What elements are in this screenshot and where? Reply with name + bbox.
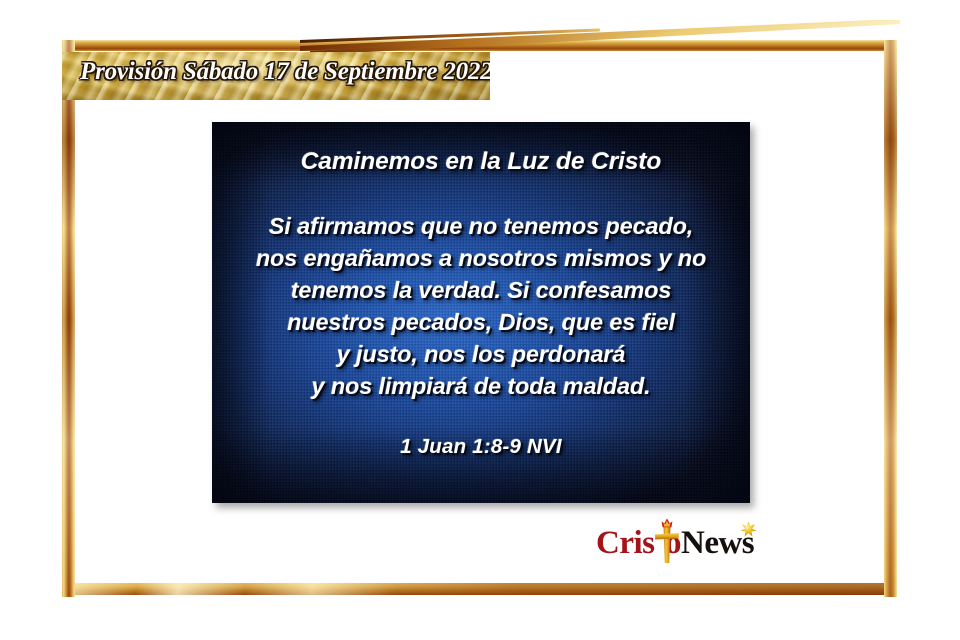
- frame-border-left: [62, 40, 75, 597]
- verse-heading: Caminemos en la Luz de Cristo: [301, 148, 662, 176]
- verse-body: Si afirmamos que no tenemos pecado, nos …: [256, 210, 706, 402]
- verse-line: y justo, nos los perdonará: [256, 338, 706, 370]
- page-title: Provisión Sábado 17 de Septiembre 2022: [80, 58, 490, 86]
- slide-canvas: Provisión Sábado 17 de Septiembre 2022 C…: [0, 0, 960, 640]
- title-band: Provisión Sábado 17 de Septiembre 2022: [62, 52, 490, 100]
- cristonews-logo[interactable]: CristoNews: [596, 520, 761, 568]
- verse-line: Si afirmamos que no tenemos pecado,: [256, 210, 706, 242]
- verse-reference: 1 Juan 1:8-9 NVI: [400, 435, 562, 459]
- verse-card: Caminemos en la Luz de Cristo Si afirmam…: [212, 122, 750, 503]
- verse-line: nos engañamos a nosotros mismos y no: [256, 242, 706, 274]
- logo-text-cristo: Cris: [596, 525, 655, 561]
- frame-border-right: [884, 40, 897, 597]
- star-icon: [740, 521, 757, 538]
- verse-line: tenemos la verdad. Si confesamos: [256, 274, 706, 306]
- verse-card-content: Caminemos en la Luz de Cristo Si afirmam…: [212, 122, 750, 503]
- verse-line: nuestros pecados, Dios, que es fiel: [256, 306, 706, 338]
- verse-line: y nos limpiará de toda maldad.: [256, 370, 706, 402]
- frame-border-top: [62, 40, 897, 51]
- frame-border-bottom: [62, 583, 897, 595]
- cross-icon: [653, 518, 681, 564]
